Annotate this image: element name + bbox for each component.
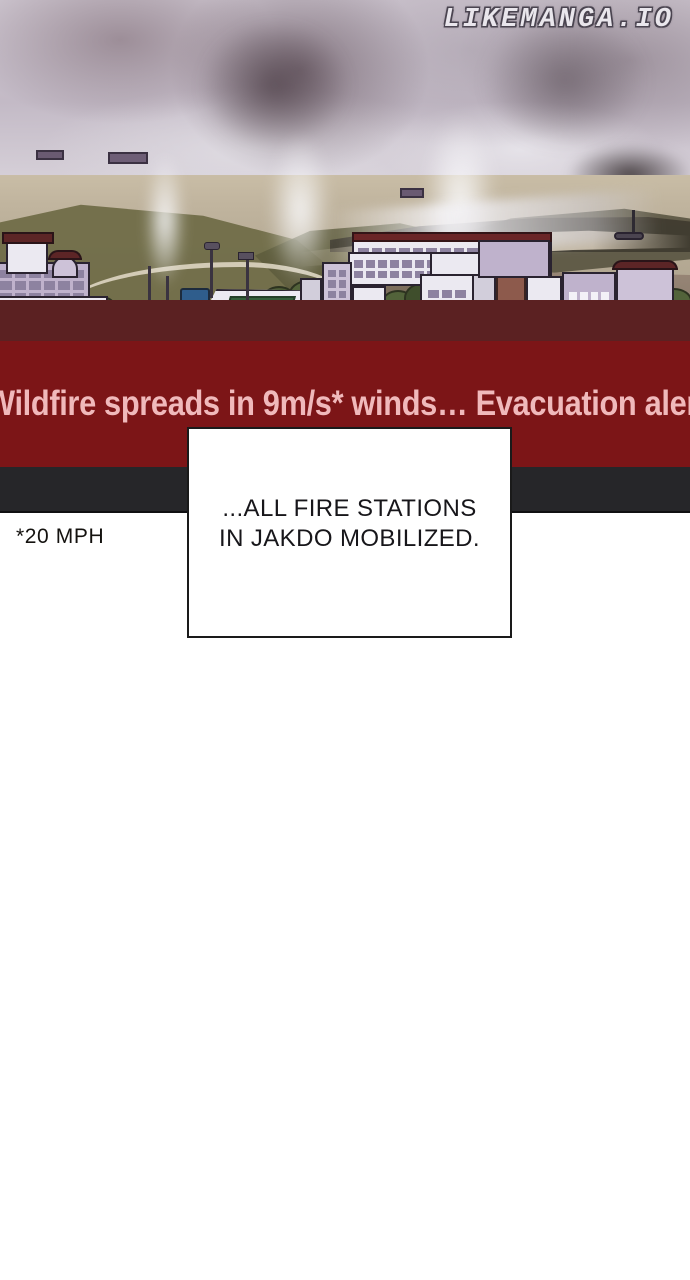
roof-red-right <box>612 260 678 270</box>
footnote-unit-conversion: *20 MPH <box>16 525 104 549</box>
antenna-head <box>238 252 254 260</box>
distant-vehicle <box>614 232 644 240</box>
comic-artwork-panel <box>0 0 690 341</box>
antenna-head <box>204 242 220 250</box>
site-watermark: LIKEMANGA.IO <box>444 5 674 35</box>
building-gabled <box>478 240 550 278</box>
distant-structure-a <box>36 150 64 160</box>
building-tower-left <box>6 240 48 274</box>
speech-bubble-text: ...ALL FIRE STATIONS IN JAKDO MOBILIZED. <box>219 494 480 554</box>
foreground-red-ground <box>0 300 690 341</box>
distant-structure-b <box>108 152 148 164</box>
roof-red-left <box>2 232 54 244</box>
roof-dome-left <box>48 250 82 260</box>
antenna-mast-d <box>246 258 249 300</box>
window-grid <box>428 290 466 298</box>
distant-structure-c <box>400 188 424 198</box>
news-ticker-text: Wildfire spreads in 9m/s* winds… Evacuat… <box>0 384 690 424</box>
speech-bubble: ...ALL FIRE STATIONS IN JAKDO MOBILIZED. <box>187 427 512 638</box>
webtoon-page: Wildfire spreads in 9m/s* winds… Evacuat… <box>0 0 690 1280</box>
antenna-mast-c <box>210 248 213 298</box>
